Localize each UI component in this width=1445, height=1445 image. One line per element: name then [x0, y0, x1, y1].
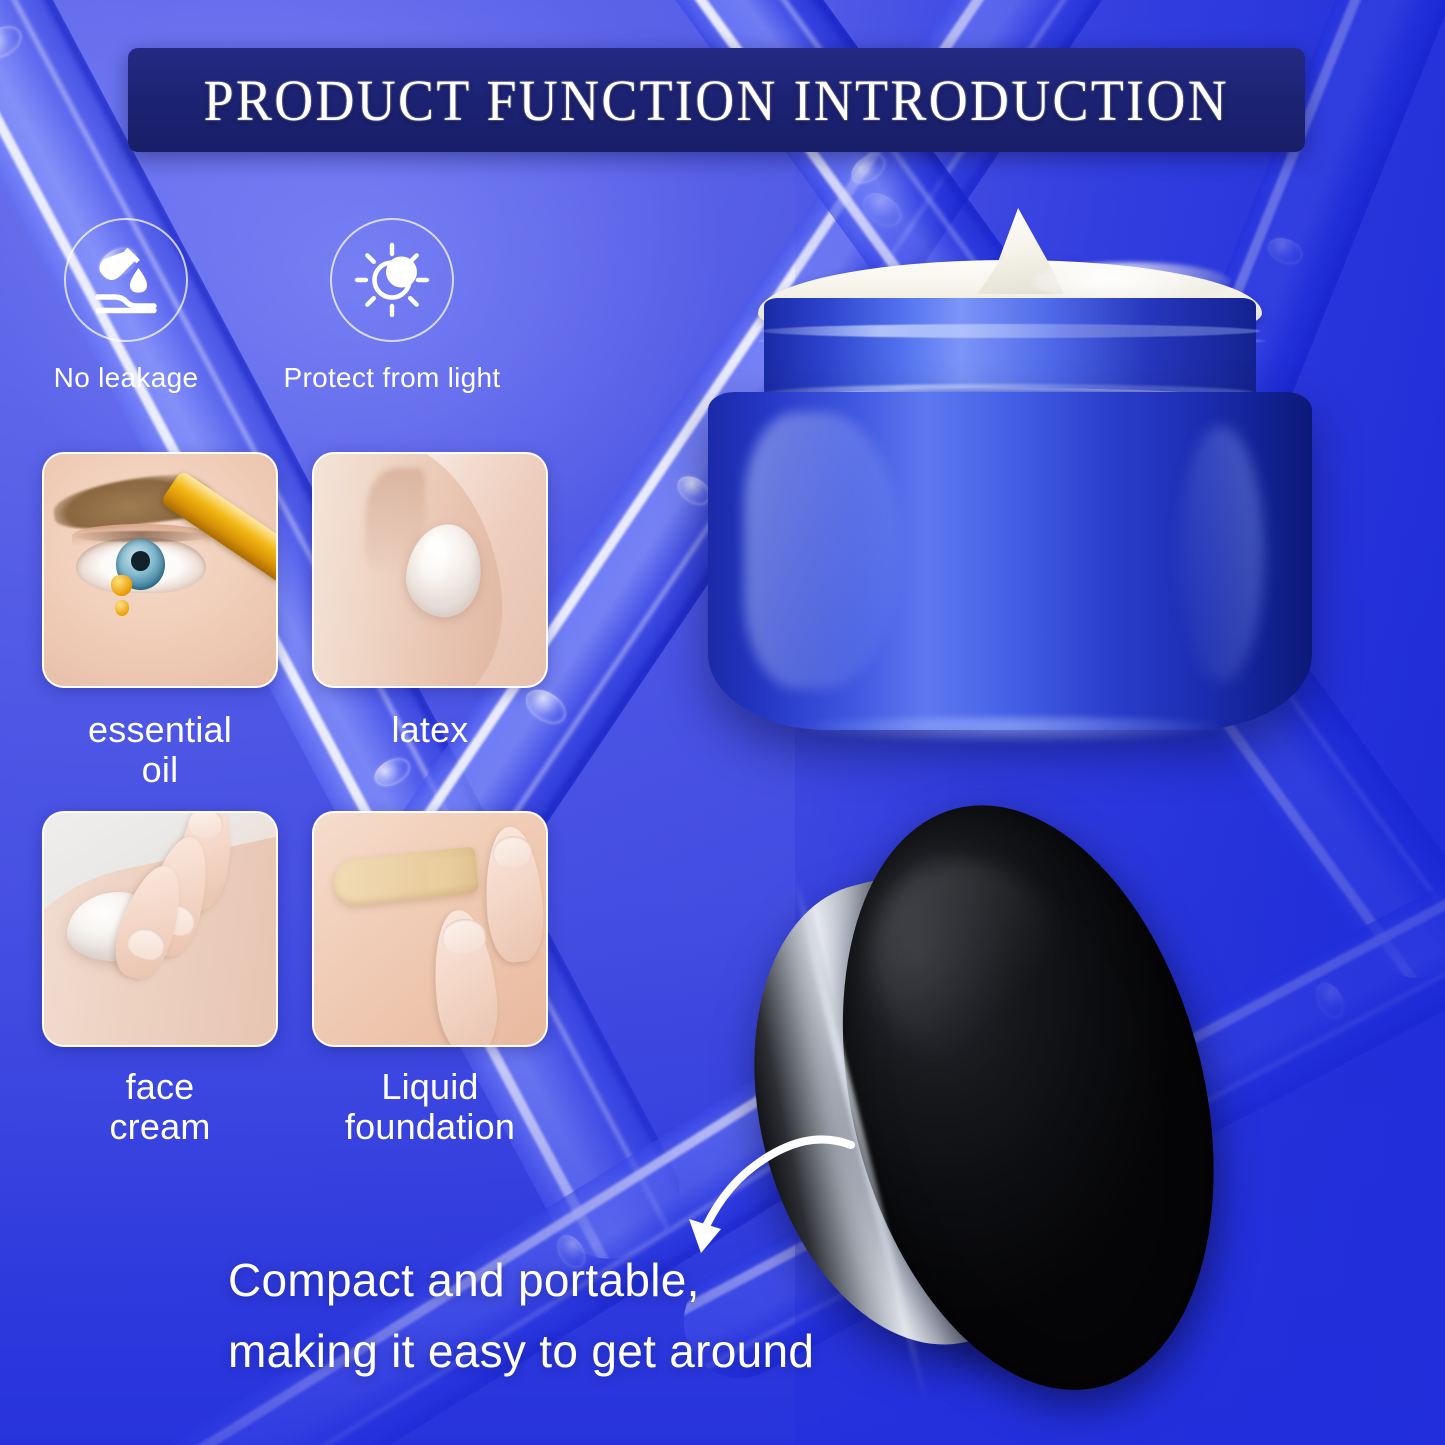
use-case-label: latex — [391, 710, 468, 750]
icon-ring — [64, 218, 188, 342]
product-jar — [700, 250, 1320, 750]
label-line-2: oil — [142, 749, 179, 790]
feature-icon-row: No leakage — [42, 218, 476, 394]
feature-label: Protect from light — [283, 362, 500, 394]
caption-line-1: Compact and portable, — [228, 1245, 814, 1316]
liquid-foundation-thumbnail[interactable] — [312, 811, 548, 1047]
label-line-2: cream — [109, 1106, 210, 1147]
cream-highlight — [1030, 262, 1230, 302]
feature-label: No leakage — [54, 362, 199, 394]
feature-no-leakage: No leakage — [42, 218, 210, 394]
use-case-liquid-foundation[interactable]: Liquid foundation — [314, 811, 546, 1148]
use-case-label: essential oil — [88, 710, 232, 791]
label-line-1: face — [126, 1066, 195, 1107]
use-case-face-cream[interactable]: face cream — [44, 811, 276, 1148]
label-line-1: latex — [391, 709, 468, 750]
use-case-label: face cream — [109, 1067, 210, 1148]
use-case-essential-oil[interactable]: essential oil — [44, 452, 276, 791]
icon-ring — [330, 218, 454, 342]
use-case-latex[interactable]: latex — [314, 452, 546, 791]
label-line-1: essential — [88, 709, 232, 750]
label-line-2: foundation — [345, 1106, 515, 1147]
essential-oil-thumbnail[interactable] — [42, 452, 278, 688]
infographic-canvas: PRODUCT FUNCTION INTRODUCTION No leakage — [0, 0, 1445, 1445]
face-cream-thumbnail[interactable] — [42, 811, 278, 1047]
use-case-label: Liquid foundation — [345, 1067, 515, 1148]
jar-body — [708, 392, 1312, 730]
title-banner: PRODUCT FUNCTION INTRODUCTION — [128, 48, 1305, 152]
label-line-1: Liquid — [381, 1066, 478, 1107]
page-title: PRODUCT FUNCTION INTRODUCTION — [204, 67, 1229, 134]
bottom-caption: Compact and portable, making it easy to … — [228, 1245, 814, 1388]
no-leakage-icon — [89, 243, 163, 317]
feature-protect-from-light: Protect from light — [308, 218, 476, 394]
jar-base-highlight — [760, 716, 1260, 742]
protect-from-light-icon — [354, 242, 430, 318]
caption-line-2: making it easy to get around — [228, 1316, 814, 1387]
latex-thumbnail[interactable] — [312, 452, 548, 688]
use-case-grid: essential oil latex — [44, 452, 546, 1147]
